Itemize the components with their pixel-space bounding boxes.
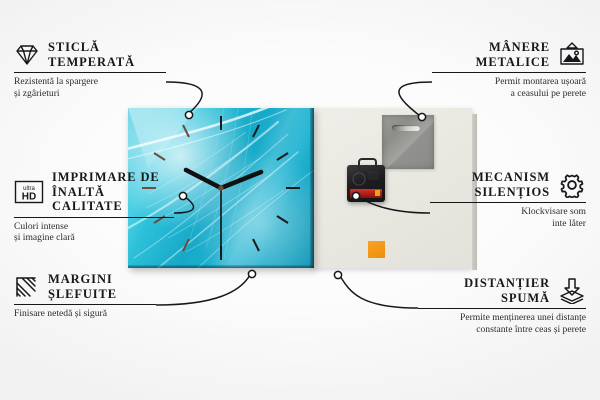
callout-mecanism-silentios: MECANISM SILENȚIOS Klockvisare som inte …	[430, 170, 586, 230]
callout-rule	[14, 217, 174, 218]
callout-sub-1: Permite menținerea unei distanțe	[418, 312, 586, 324]
callout-rule	[14, 304, 156, 305]
callout-rule	[418, 308, 586, 309]
callout-head: ultra HD IMPRIMARE DE ÎNALTĂ CALITATE	[14, 170, 174, 214]
metal-hanger-plate	[382, 115, 434, 169]
callout-sub-1: Permit montarea ușoară	[432, 76, 586, 88]
callout-sub-2: constante între ceas și perete	[418, 324, 586, 336]
minute-hand	[221, 172, 261, 188]
callout-margini-slefuite: MARGINI ȘLEFUITE Finisare netedă și sigu…	[14, 272, 156, 320]
callout-title: DISTANȚIER SPUMĂ	[464, 276, 550, 305]
callout-distantier-spuma: DISTANȚIER SPUMĂ Permite menținerea unei…	[418, 276, 586, 336]
callout-sub-1: Rezistentă la spargere	[14, 76, 166, 88]
callout-title: MECANISM SILENȚIOS	[472, 170, 550, 199]
arrow-down-onto-layers-icon	[558, 278, 586, 304]
callout-rule	[14, 72, 166, 73]
callout-sub-1: Klockvisare som	[430, 206, 586, 218]
callout-sub-2: și zgârieturi	[14, 88, 166, 100]
callout-head: DISTANȚIER SPUMĂ	[418, 276, 586, 305]
callout-title: STICLĂ TEMPERATĂ	[48, 40, 135, 69]
mechanism-hanging-loop	[358, 158, 377, 170]
svg-text:HD: HD	[22, 191, 36, 202]
callout-rule	[430, 202, 586, 203]
callout-head: MECANISM SILENȚIOS	[430, 170, 586, 199]
callout-head: MARGINI ȘLEFUITE	[14, 272, 156, 301]
callout-sticla-temperata: STICLĂ TEMPERATĂ Rezistentă la spargere …	[14, 40, 166, 100]
callout-title: IMPRIMARE DE ÎNALTĂ CALITATE	[52, 170, 174, 214]
product-photo	[128, 108, 472, 273]
foam-spacer-pad	[368, 241, 385, 258]
callout-head: MÂNERE METALICE	[432, 40, 586, 69]
mechanism-texture	[351, 170, 381, 188]
ultra-hd-badge-icon: ultra HD	[14, 180, 44, 204]
leader-margini	[156, 275, 250, 305]
callout-rule	[432, 72, 586, 73]
callout-head: STICLĂ TEMPERATĂ	[14, 40, 166, 69]
diamond-icon	[14, 43, 40, 67]
hanger-keyhole-slot	[392, 125, 420, 131]
infographic-stage: STICLĂ TEMPERATĂ Rezistentă la spargere …	[0, 0, 600, 400]
polished-edges-icon	[14, 275, 40, 299]
callout-title: MÂNERE METALICE	[476, 40, 550, 69]
quartz-mechanism	[347, 165, 385, 202]
picture-frame-hanging-icon	[558, 42, 586, 68]
callout-imprimare-hd: ultra HD IMPRIMARE DE ÎNALTĂ CALITATE Cu…	[14, 170, 174, 244]
callout-sub-2: și imagine clară	[14, 232, 174, 244]
callout-manere-metalice: MÂNERE METALICE Permit montarea ușoară a…	[432, 40, 586, 100]
callout-sub-2: inte låter	[430, 218, 586, 230]
gear-icon	[558, 172, 586, 198]
glass-bottom-edge	[128, 265, 314, 268]
dial-center-cap	[218, 185, 223, 190]
hour-hand	[186, 170, 221, 188]
callout-title: MARGINI ȘLEFUITE	[48, 272, 117, 301]
glass-right-edge	[310, 108, 314, 268]
callout-sub-1: Finisare netedă și sigură	[14, 308, 156, 320]
callout-sub-1: Culori intense	[14, 221, 174, 233]
leader-distantier	[340, 276, 418, 308]
aa-battery	[350, 189, 382, 198]
callout-sub-2: a ceasului pe perete	[432, 88, 586, 100]
